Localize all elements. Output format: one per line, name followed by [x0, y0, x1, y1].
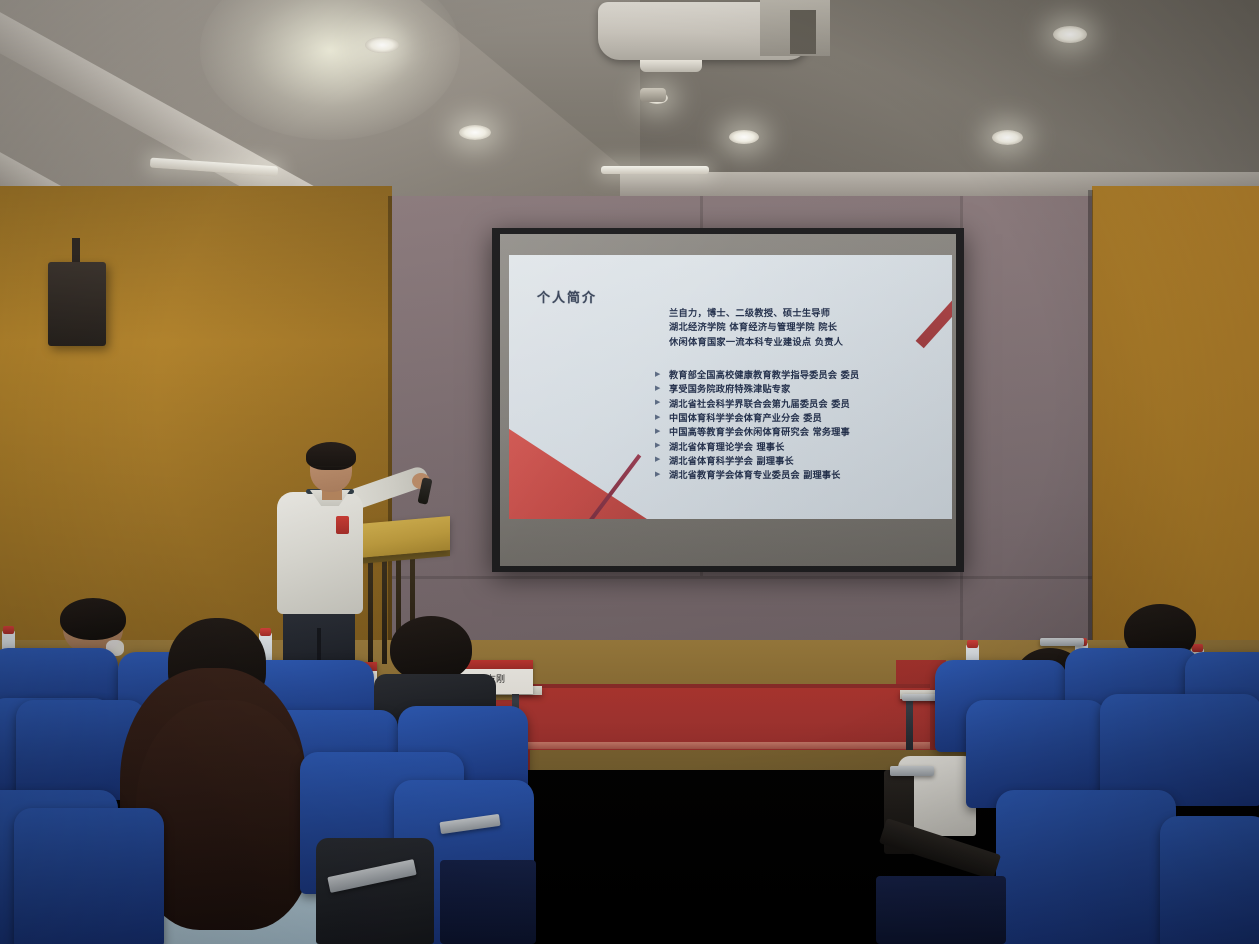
slide-title: 个人简介 [537, 287, 597, 306]
projector-mount-bracket [790, 10, 816, 54]
bottle-cap [3, 626, 14, 634]
wall-seam [388, 196, 392, 696]
downlight-icon [992, 130, 1023, 145]
slide-header-block: 兰自力，博士、二级教授、硕士生导师 湖北经济学院 体育经济与管理学院 院长 休闲… [669, 307, 919, 350]
wall-panel-line [392, 576, 1092, 579]
slide-header-line: 休闲体育国家一流本科专业建设点 负责人 [669, 336, 919, 350]
table-leg [906, 698, 913, 750]
wall-seam [1088, 190, 1093, 706]
lecture-hall-scene: 个人简介 兰自力，博士、二级教授、硕士生导师 湖北经济学院 体育经济与管理学院 … [0, 0, 1259, 944]
podium-rail [368, 558, 373, 664]
slide-bullet-item: ▶ 湖北省体育理论学会 理事长 [655, 438, 945, 452]
slide-bullet-list: ▶ 教育部全国高校健康教育教学指导委员会 委员 ▶ 享受国务院政府特殊津贴专家 … [655, 367, 945, 481]
bullet-triangle-icon: ▶ [655, 456, 669, 463]
slide-header-line: 兰自力，博士、二级教授、硕士生导师 [669, 307, 919, 321]
slide-bullet-item: ▶ 享受国务院政府特殊津贴专家 [655, 381, 945, 395]
slide-bullet-item: ▶ 中国体育科学学会体育产业分会 委员 [655, 410, 945, 424]
bullet-triangle-icon: ▶ [655, 371, 669, 378]
slide-bullet-item: ▶ 湖北省体育科学学会 副理事长 [655, 453, 945, 467]
downlight-icon [365, 37, 399, 53]
presenter-badge [336, 516, 349, 534]
presenter-glasses [312, 466, 350, 472]
audience-head [390, 616, 472, 682]
slide-bullet-item: ▶ 湖北省教育学会体育专业委员会 副理事长 [655, 467, 945, 481]
slide-bullet-text: 教育部全国高校健康教育教学指导委员会 委员 [669, 367, 859, 381]
stage-red-carpet [512, 688, 930, 750]
auditorium-seat[interactable] [1160, 816, 1259, 944]
downlight-icon [459, 125, 491, 140]
slide-bullet-text: 享受国务院政府特殊津贴专家 [669, 381, 790, 395]
slide-decor-triangle [509, 425, 653, 519]
slide-bullet-text: 湖北省体育科学学会 副理事长 [669, 453, 794, 467]
projector-lens [640, 60, 702, 72]
bullet-triangle-icon: ▶ [655, 442, 669, 449]
bullet-triangle-icon: ▶ [655, 471, 669, 478]
bullet-triangle-icon: ▶ [655, 414, 669, 421]
slide-bullet-item: ▶ 教育部全国高校健康教育教学指导委员会 委员 [655, 367, 945, 381]
presenter-torso [277, 492, 363, 614]
bottle-cap [260, 628, 271, 636]
downlight-icon [1053, 26, 1087, 43]
auditorium-seat[interactable] [14, 808, 164, 944]
bottle-cap [967, 640, 978, 648]
slide-bullet-text: 湖北省社会科学界联合会第九届委员会 委员 [669, 396, 850, 410]
speaker-bracket [72, 238, 80, 264]
ceiling-fixture [640, 88, 666, 102]
slide-bullet-item: ▶ 湖北省社会科学界联合会第九届委员会 委员 [655, 396, 945, 410]
slide-bullet-text: 湖北省教育学会体育专业委员会 副理事长 [669, 467, 841, 481]
slide-decor-stripe-top [916, 255, 952, 348]
bottle-cap [1192, 644, 1203, 652]
folding-desk[interactable] [890, 766, 934, 776]
bullet-triangle-icon: ▶ [655, 428, 669, 435]
seat-base [876, 876, 1006, 944]
bullet-triangle-icon: ▶ [655, 385, 669, 392]
slide-bullet-text: 湖北省体育理论学会 理事长 [669, 439, 785, 453]
wall-speaker [48, 262, 106, 346]
audience-hair [60, 598, 126, 640]
slide-bullet-text: 中国体育科学学会体育产业分会 委员 [669, 410, 822, 424]
seat-base [440, 860, 536, 944]
slide-bullet-item: ▶ 中国高等教育学会休闲体育研究会 常务理事 [655, 424, 945, 438]
slide-header-line: 湖北经济学院 体育经济与管理学院 院长 [669, 321, 919, 335]
presentation-slide: 个人简介 兰自力，博士、二级教授、硕士生导师 湖北经济学院 体育经济与管理学院 … [509, 255, 952, 519]
auditorium-seat[interactable] [996, 790, 1176, 944]
stage-edge-trim [512, 742, 930, 749]
slide-bullet-text: 中国高等教育学会休闲体育研究会 常务理事 [669, 424, 850, 438]
podium-rail [382, 558, 387, 664]
downlight-icon [729, 130, 759, 144]
bullet-triangle-icon: ▶ [655, 399, 669, 406]
strip-light [601, 166, 709, 174]
desk-surface [1040, 638, 1084, 646]
